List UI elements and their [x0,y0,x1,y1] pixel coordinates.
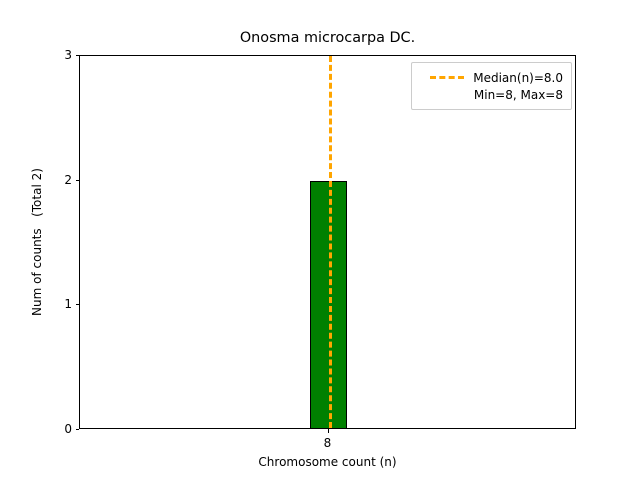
y-tick-mark [76,304,80,305]
legend-label-median: Median(n)=8.0 [473,71,563,85]
legend-label-minmax: Min=8, Max=8 [418,88,563,102]
y-tick-label: 2 [55,174,72,186]
legend-entry-minmax: Min=8, Max=8 [418,86,563,103]
y-tick-label: 1 [55,298,72,310]
x-axis-label: Chromosome count (n) [79,455,576,469]
y-tick-mark [76,180,80,181]
legend: Median(n)=8.0 Min=8, Max=8 [411,62,572,110]
y-tick-mark [76,55,80,56]
y-axis-label: Num of counts (Total 2) [30,42,44,442]
median-line [329,56,332,428]
dashed-line-icon [430,76,464,79]
plot-area [79,55,576,429]
legend-entry-median: Median(n)=8.0 [418,69,563,86]
x-tick-label: 8 [324,436,332,450]
x-tick-mark [328,429,329,433]
chart-figure: Onosma microcarpa DC. 0123 8 Chromosome … [0,0,640,480]
y-tick-label: 3 [55,49,72,61]
y-tick-label: 0 [55,423,72,435]
plot-inner [80,56,575,428]
y-tick-mark [76,429,80,430]
page-title: Onosma microcarpa DC. [79,30,576,47]
